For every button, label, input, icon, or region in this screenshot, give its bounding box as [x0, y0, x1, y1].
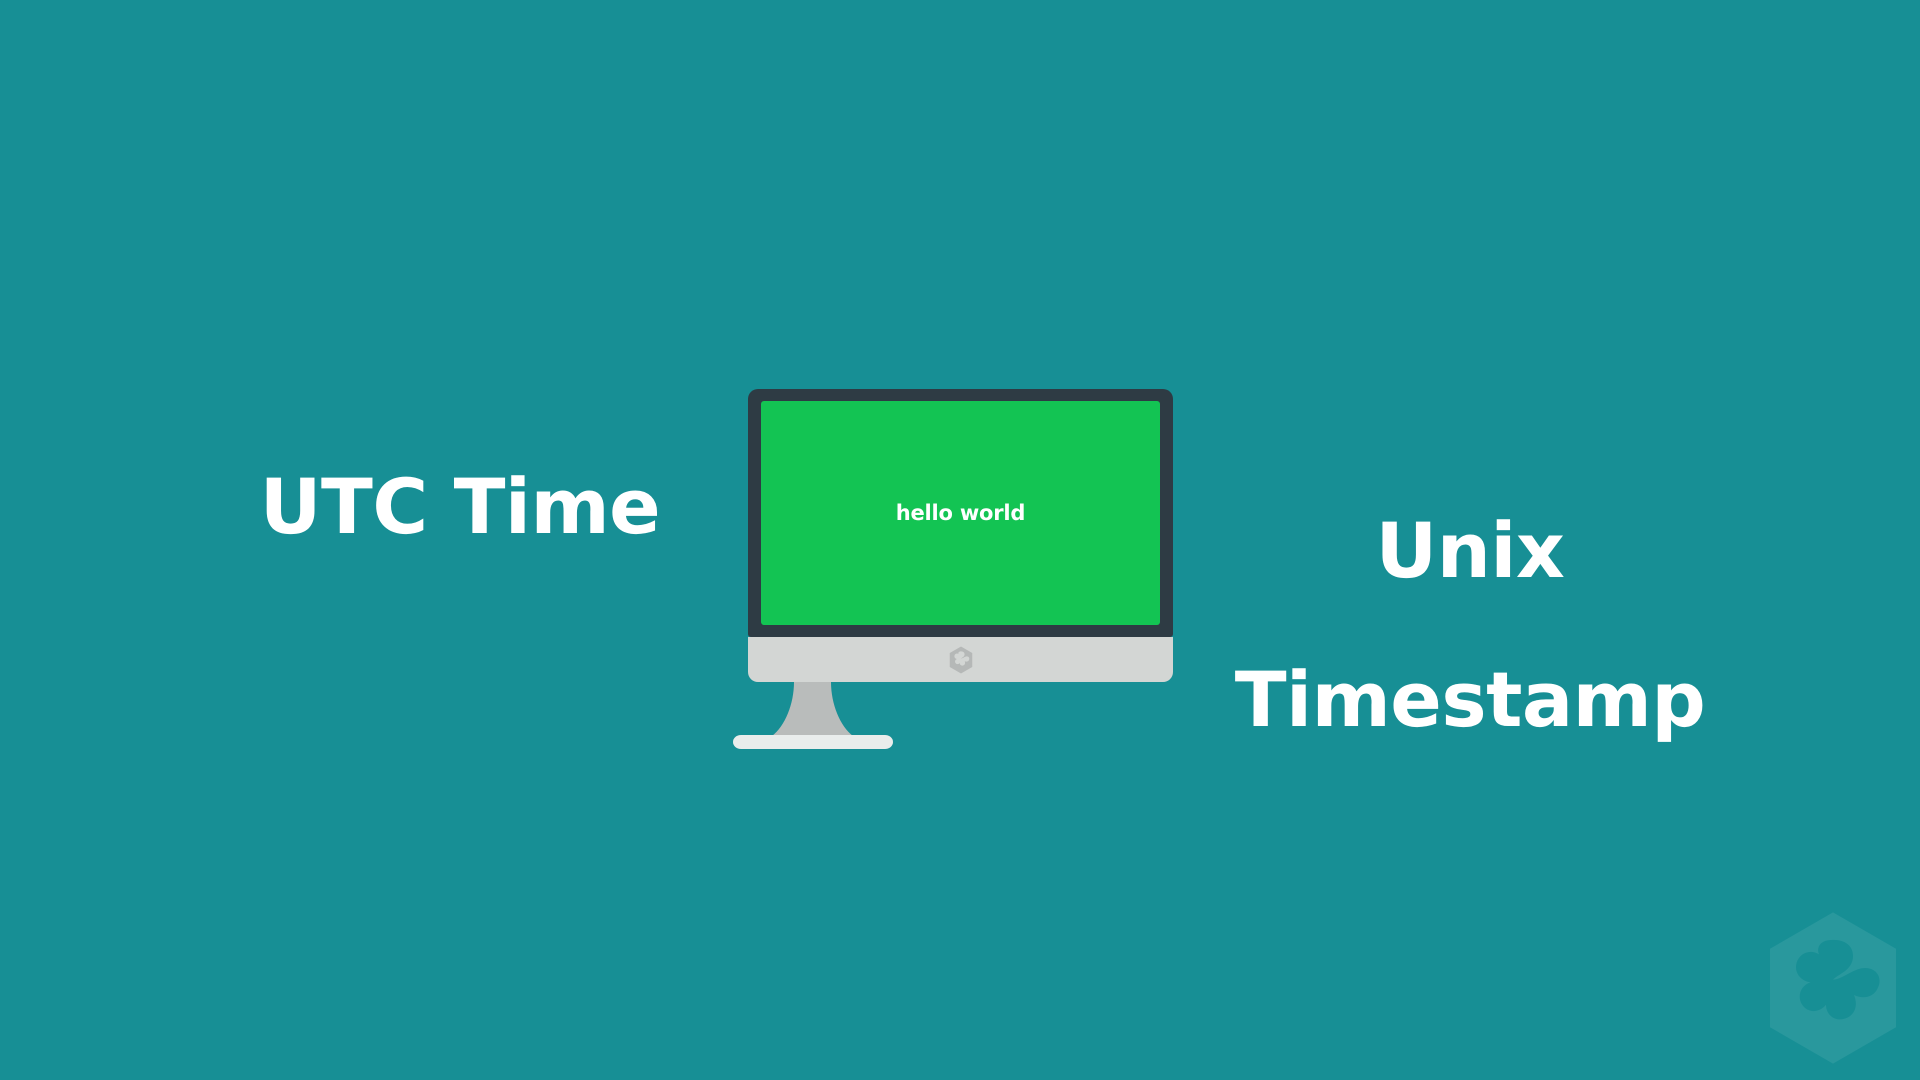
monitor-bezel: hello world — [748, 389, 1173, 637]
unix-timestamp-line-2: Timestamp — [1190, 663, 1750, 737]
hexagon-splat-logo-watermark — [1763, 908, 1903, 1068]
unix-timestamp-line-1: Unix — [1190, 514, 1750, 588]
scene-canvas: UTC Time hello world Unix Timestamp — [0, 0, 1920, 1080]
unix-timestamp-label: Unix Timestamp — [1190, 440, 1750, 812]
hexagon-splat-icon — [948, 646, 974, 674]
utc-time-label: UTC Time — [180, 470, 740, 544]
monitor-illustration: hello world — [748, 389, 1173, 682]
screen-hello-world-text: hello world — [896, 501, 1026, 525]
monitor-stand-foot — [733, 735, 893, 749]
monitor-stand-neck — [772, 682, 853, 740]
monitor-screen: hello world — [761, 401, 1160, 625]
monitor-chin — [748, 637, 1173, 682]
